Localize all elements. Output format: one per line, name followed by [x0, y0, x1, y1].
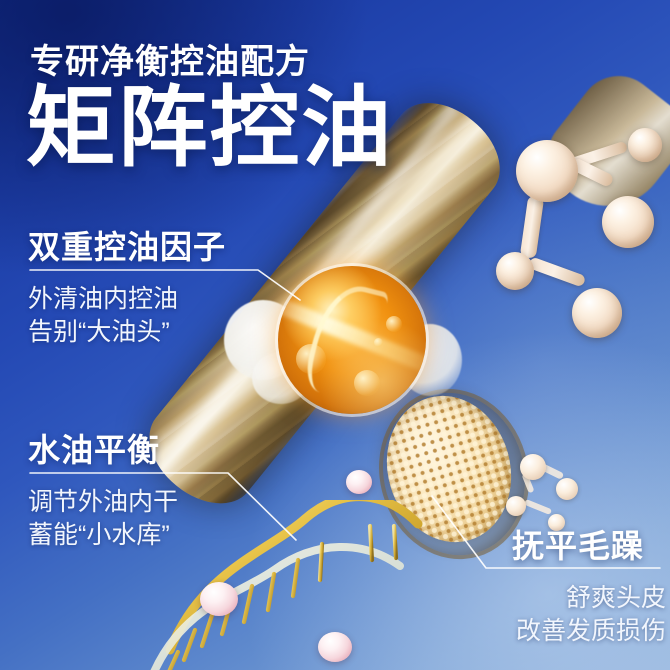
feature-body-dual-oil-control: 外清油内控油 告别“大油头”	[28, 283, 178, 349]
feature-title-smooth-frizz: 抚平毛躁	[512, 521, 644, 567]
molecule-node	[506, 496, 526, 516]
bubble-oil-droplet	[386, 316, 402, 332]
molecule-node	[520, 454, 546, 480]
page-title: 矩阵控油	[26, 84, 393, 172]
bubble-oil-droplet	[354, 370, 380, 396]
dna-capsule-icon	[200, 582, 238, 616]
molecule-node	[556, 478, 578, 500]
oil-magnifier-bubble	[278, 266, 426, 414]
molecule-node	[516, 140, 578, 202]
feature-title-water-oil-balance: 水油平衡	[28, 425, 160, 471]
molecule-node	[496, 252, 534, 290]
dna-capsule-icon	[346, 470, 372, 494]
feature-title-dual-oil-control: 双重控油因子	[28, 222, 226, 268]
molecule-node	[572, 288, 622, 338]
bubble-oil-droplet	[374, 338, 383, 347]
product-poster: 专研净衡控油配方 矩阵控油 双重控油因子 外清油内控油 告别“大油头” 水油平衡…	[0, 0, 670, 670]
brand-eyebrow: 专研净衡控油配方	[30, 44, 310, 81]
feature-body-smooth-frizz: 舒爽头皮 改善发质损伤	[330, 582, 666, 648]
feature-body-water-oil-balance: 调节外油内干 蓄能“小水库”	[28, 486, 178, 552]
molecule-node	[602, 196, 654, 248]
bubble-oil-droplet	[296, 344, 326, 374]
feature-body-smooth-frizz-wrap: 舒爽头皮 改善发质损伤	[330, 582, 666, 648]
molecule-node	[628, 128, 662, 162]
